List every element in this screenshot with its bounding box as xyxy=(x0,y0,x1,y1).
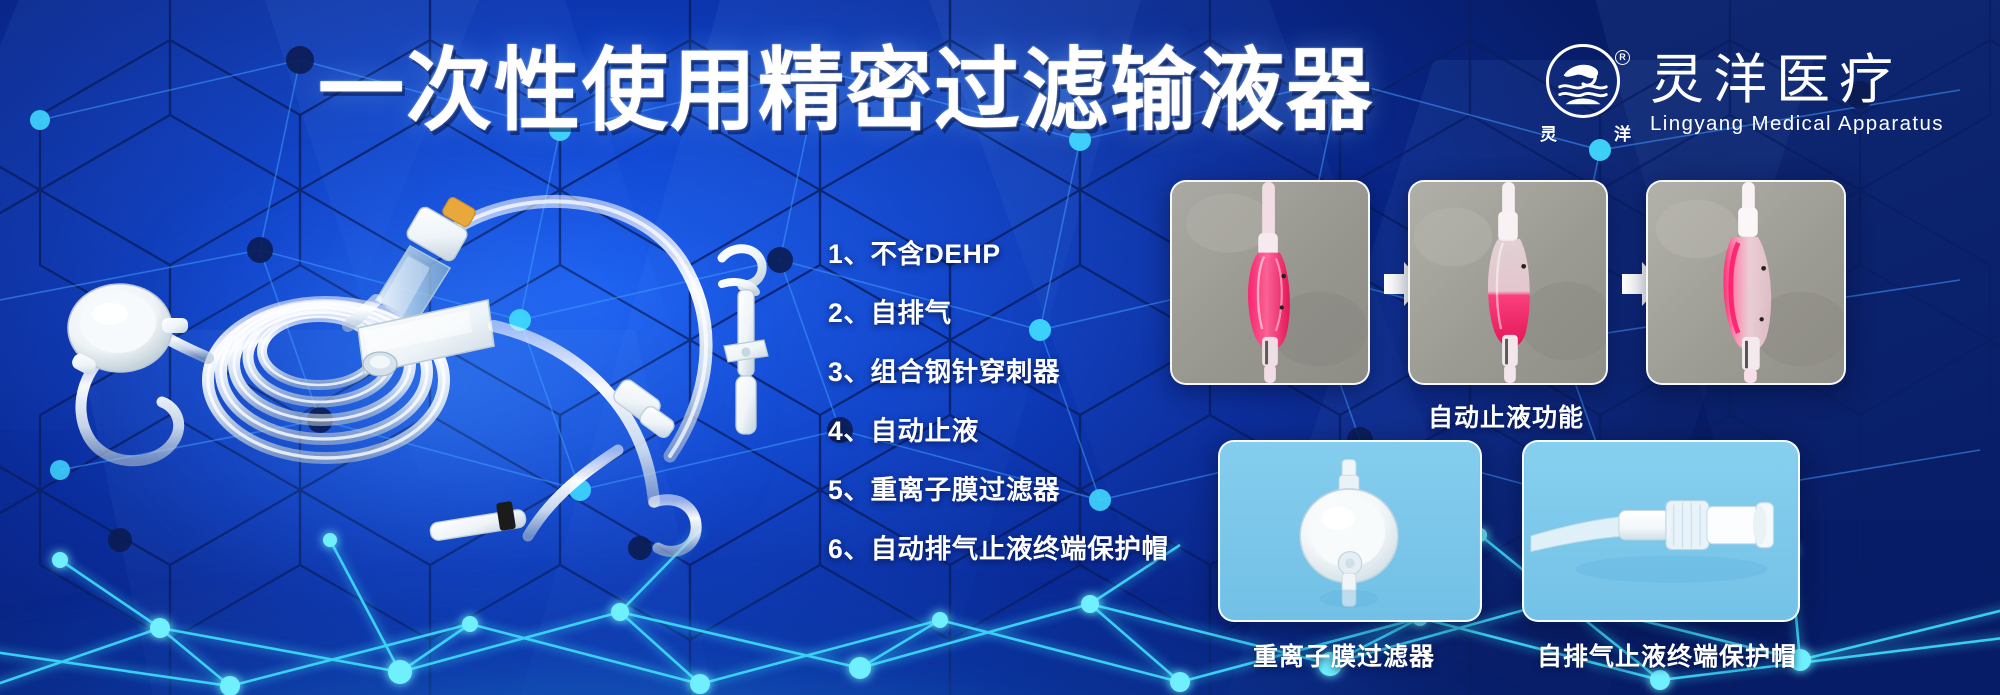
membrane-filter-photo xyxy=(1220,442,1480,620)
terminal-cap-part xyxy=(429,501,527,541)
drip-chamber-photo-full xyxy=(1172,182,1368,383)
feature-label-4: 自动止液 xyxy=(870,409,978,448)
product-banner: 一次性使用精密过滤输液器 R 灵 洋 灵洋医疗 Lingyang Medical… xyxy=(0,0,2000,695)
feature-index-6: 6、 xyxy=(828,527,870,566)
brand-text: 灵洋医疗 Lingyang Medical Apparatus xyxy=(1650,52,1944,136)
drip-chamber-photo-half xyxy=(1410,182,1606,383)
feature-item-4: 4、 自动止液 xyxy=(828,399,1169,458)
brand-logo: R 灵 洋 灵洋医疗 Lingyang Medical Apparatus xyxy=(1540,44,1944,144)
registered-trademark-icon: R xyxy=(1615,50,1630,65)
feature-item-2: 2、 自排气 xyxy=(828,281,1169,340)
logo-char-right: 洋 xyxy=(1614,120,1632,145)
brand-name-en: Lingyang Medical Apparatus xyxy=(1650,112,1944,136)
feature-item-6: 6、 自动排气止液终端保护帽 xyxy=(828,517,1169,576)
feature-index-3: 3、 xyxy=(828,350,870,389)
terminal-cap-photo xyxy=(1524,442,1798,620)
feature-label-5: 重离子膜过滤器 xyxy=(870,468,1060,507)
feature-item-3: 3、 组合钢针穿刺器 xyxy=(828,340,1169,399)
feature-label-2: 自排气 xyxy=(870,291,951,330)
drip-chamber-photo-closed xyxy=(1648,182,1844,383)
sequence-caption: 自动止液功能 xyxy=(1428,398,1584,434)
feature-label-3: 组合钢针穿刺器 xyxy=(870,350,1060,389)
feature-label-1: 不含DEHP xyxy=(870,232,1000,271)
feature-item-1: 1、 不含DEHP xyxy=(828,222,1169,281)
banner-title: 一次性使用精密过滤输液器 xyxy=(318,46,1374,136)
feature-list: 1、 不含DEHP 2、 自排气 3、 组合钢针穿刺器 4、 自动止液 5、 重… xyxy=(828,222,1169,576)
hero-product-image xyxy=(58,150,798,550)
logo-emblem: R 灵 洋 xyxy=(1540,44,1632,144)
detail-card-caption-filter: 重离子膜过滤器 xyxy=(1253,637,1435,673)
brand-name-cn: 灵洋医疗 xyxy=(1650,52,1944,109)
logo-char-left: 灵 xyxy=(1540,120,1558,145)
heavy-ion-membrane-filter-card xyxy=(1218,440,1482,622)
steel-needle-part xyxy=(722,249,768,434)
feature-item-5: 5、 重离子膜过滤器 xyxy=(828,458,1169,517)
membrane-filter-part xyxy=(68,284,188,377)
detail-card-caption-cap: 自排气止液终端保护帽 xyxy=(1537,637,1797,673)
logo-sub-characters: 灵 洋 xyxy=(1540,120,1632,145)
feature-label-6: 自动排气止液终端保护帽 xyxy=(870,527,1168,566)
feature-index-2: 2、 xyxy=(828,291,870,330)
swimmer-wave-icon xyxy=(1552,50,1614,112)
logo-circle-icon xyxy=(1546,44,1620,118)
auto-stop-frame-3 xyxy=(1646,180,1846,385)
auto-stop-frame-1 xyxy=(1170,180,1370,385)
feature-index-1: 1、 xyxy=(828,232,870,271)
infusion-set-illustration xyxy=(58,150,798,550)
self-venting-terminal-cap-card xyxy=(1522,440,1800,622)
feature-index-4: 4、 xyxy=(828,409,870,448)
auto-stop-frame-2 xyxy=(1408,180,1608,385)
feature-index-5: 5、 xyxy=(828,468,870,507)
